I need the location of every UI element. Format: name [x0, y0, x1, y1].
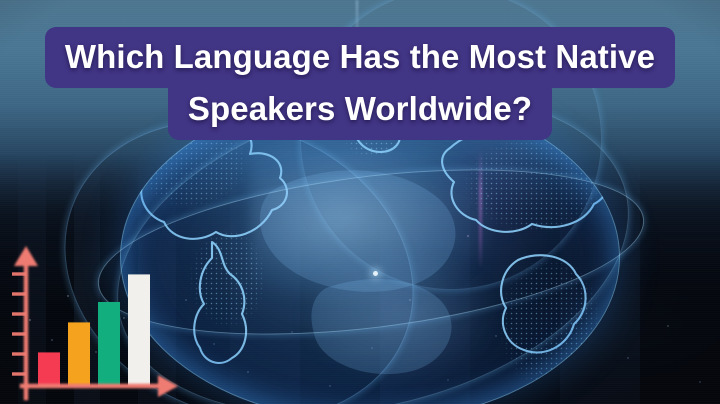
chart-bar-1 [38, 352, 60, 386]
bar-chart-graphic [0, 244, 190, 404]
title-block: Which Language Has the Most Native Speak… [0, 0, 720, 140]
chart-bar-2 [68, 322, 90, 386]
x-axis-arrow-icon [158, 375, 178, 397]
thumbnail-canvas: Which Language Has the Most Native Speak… [0, 0, 720, 404]
chart-bar-4 [128, 274, 150, 386]
y-axis-arrow-icon [14, 246, 38, 266]
chart-bar-3 [98, 302, 120, 386]
bar-group [38, 274, 150, 386]
title-line-2: Speakers Worldwide? [168, 79, 552, 140]
